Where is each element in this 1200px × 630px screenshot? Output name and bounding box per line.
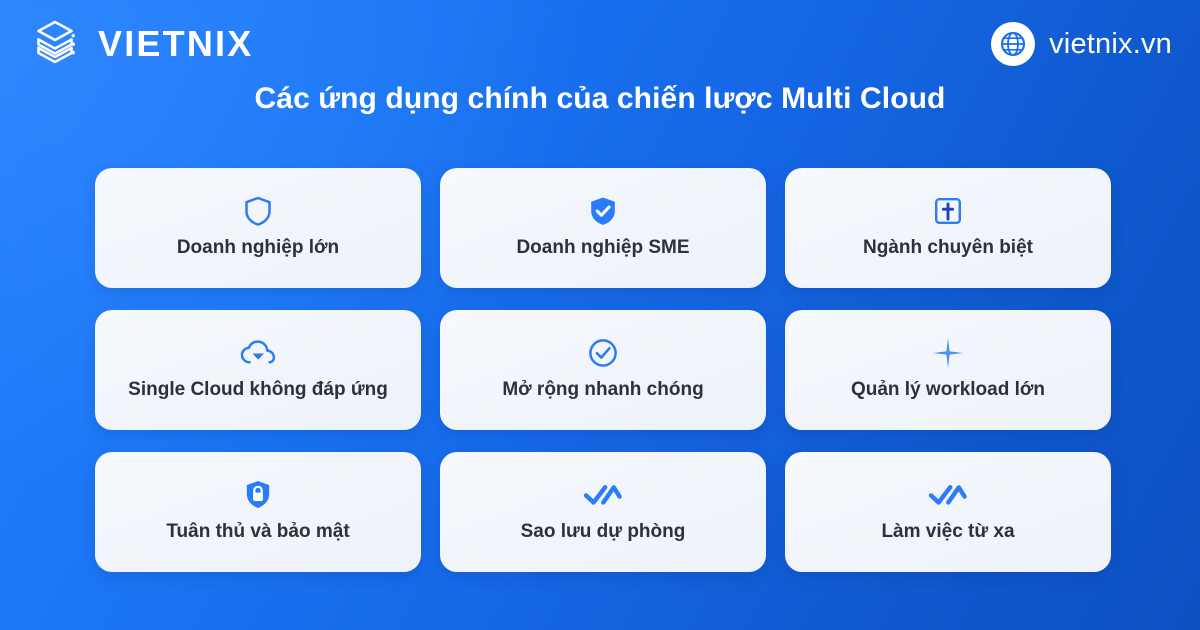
feature-card-label: Quản lý workload lớn bbox=[851, 379, 1045, 402]
check-arrow-up-icon bbox=[928, 478, 968, 512]
feature-card-label: Tuân thủ và bảo mật bbox=[166, 521, 349, 544]
square-cross-outline-icon bbox=[933, 194, 963, 228]
feature-card-label: Doanh nghiệp SME bbox=[516, 237, 689, 260]
feature-card[interactable]: Quản lý workload lớn bbox=[785, 310, 1111, 430]
feature-card-label: Mở rộng nhanh chóng bbox=[502, 379, 703, 402]
stacked-layers-icon bbox=[26, 15, 84, 73]
site-url-text: vietnix.vn bbox=[1049, 30, 1172, 59]
site-url-group[interactable]: vietnix.vn bbox=[991, 22, 1172, 66]
page-title: Các ứng dụng chính của chiến lược Multi … bbox=[0, 80, 1200, 118]
feature-card-label: Sao lưu dự phòng bbox=[521, 521, 686, 544]
feature-card[interactable]: Ngành chuyên biệt bbox=[785, 168, 1111, 288]
infographic-poster: VIETNIX vietnix.vn Các ứng dụng chính củ… bbox=[0, 0, 1200, 630]
feature-card[interactable]: Doanh nghiệp lớn bbox=[95, 168, 421, 288]
feature-card[interactable]: Sao lưu dự phòng bbox=[440, 452, 766, 572]
globe-icon bbox=[991, 22, 1035, 66]
feature-card-grid: Doanh nghiệp lớn Doanh nghiệp SME Ngà bbox=[95, 168, 1115, 572]
check-arrow-up-icon bbox=[583, 478, 623, 512]
shield-check-filled-icon bbox=[586, 194, 620, 228]
brand-logo: VIETNIX bbox=[26, 15, 253, 73]
feature-card[interactable]: Tuân thủ và bảo mật bbox=[95, 452, 421, 572]
brand-name: VIETNIX bbox=[98, 26, 253, 62]
feature-card-label: Single Cloud không đáp ứng bbox=[128, 379, 388, 402]
feature-card[interactable]: Làm việc từ xa bbox=[785, 452, 1111, 572]
feature-card-label: Làm việc từ xa bbox=[881, 521, 1014, 544]
circle-check-outline-icon bbox=[586, 336, 620, 370]
feature-card[interactable]: Single Cloud không đáp ứng bbox=[95, 310, 421, 430]
shield-outline-icon bbox=[241, 194, 275, 228]
feature-card[interactable]: Mở rộng nhanh chóng bbox=[440, 310, 766, 430]
feature-card-label: Doanh nghiệp lớn bbox=[177, 237, 339, 260]
feature-card-label: Ngành chuyên biệt bbox=[863, 237, 1033, 260]
feature-card[interactable]: Doanh nghiệp SME bbox=[440, 168, 766, 288]
cloud-download-icon bbox=[239, 336, 277, 370]
sparkle-star-icon bbox=[931, 336, 965, 370]
shield-lock-filled-icon bbox=[242, 478, 274, 512]
poster-header: VIETNIX vietnix.vn bbox=[0, 0, 1200, 88]
